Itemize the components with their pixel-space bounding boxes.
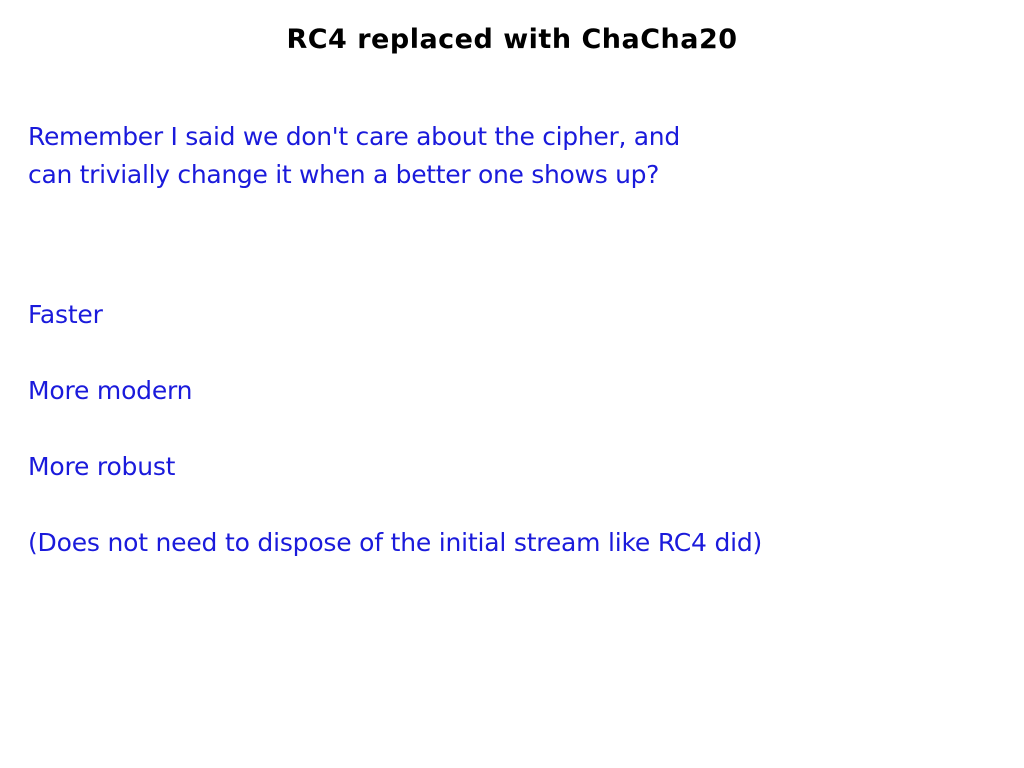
spacer-after-intro — [28, 194, 988, 300]
slide-canvas: RC4 replaced with ChaCha20 Remember I sa… — [0, 0, 1024, 768]
intro-paragraph: Remember I said we don't care about the … — [28, 118, 988, 194]
intro-line-1: Remember I said we don't care about the … — [28, 118, 988, 156]
spacer-before-note — [28, 482, 988, 528]
slide-body: Remember I said we don't care about the … — [28, 118, 988, 558]
slide-title: RC4 replaced with ChaCha20 — [0, 24, 1024, 55]
bullet-item-more-robust: More robust — [28, 452, 988, 482]
spacer-bullet-2 — [28, 406, 988, 452]
bullet-item-more-modern: More modern — [28, 376, 988, 406]
intro-line-2: can trivially change it when a better on… — [28, 156, 988, 194]
note-line: (Does not need to dispose of the initial… — [28, 528, 988, 558]
bullet-item-faster: Faster — [28, 300, 988, 330]
spacer-bullet-1 — [28, 330, 988, 376]
